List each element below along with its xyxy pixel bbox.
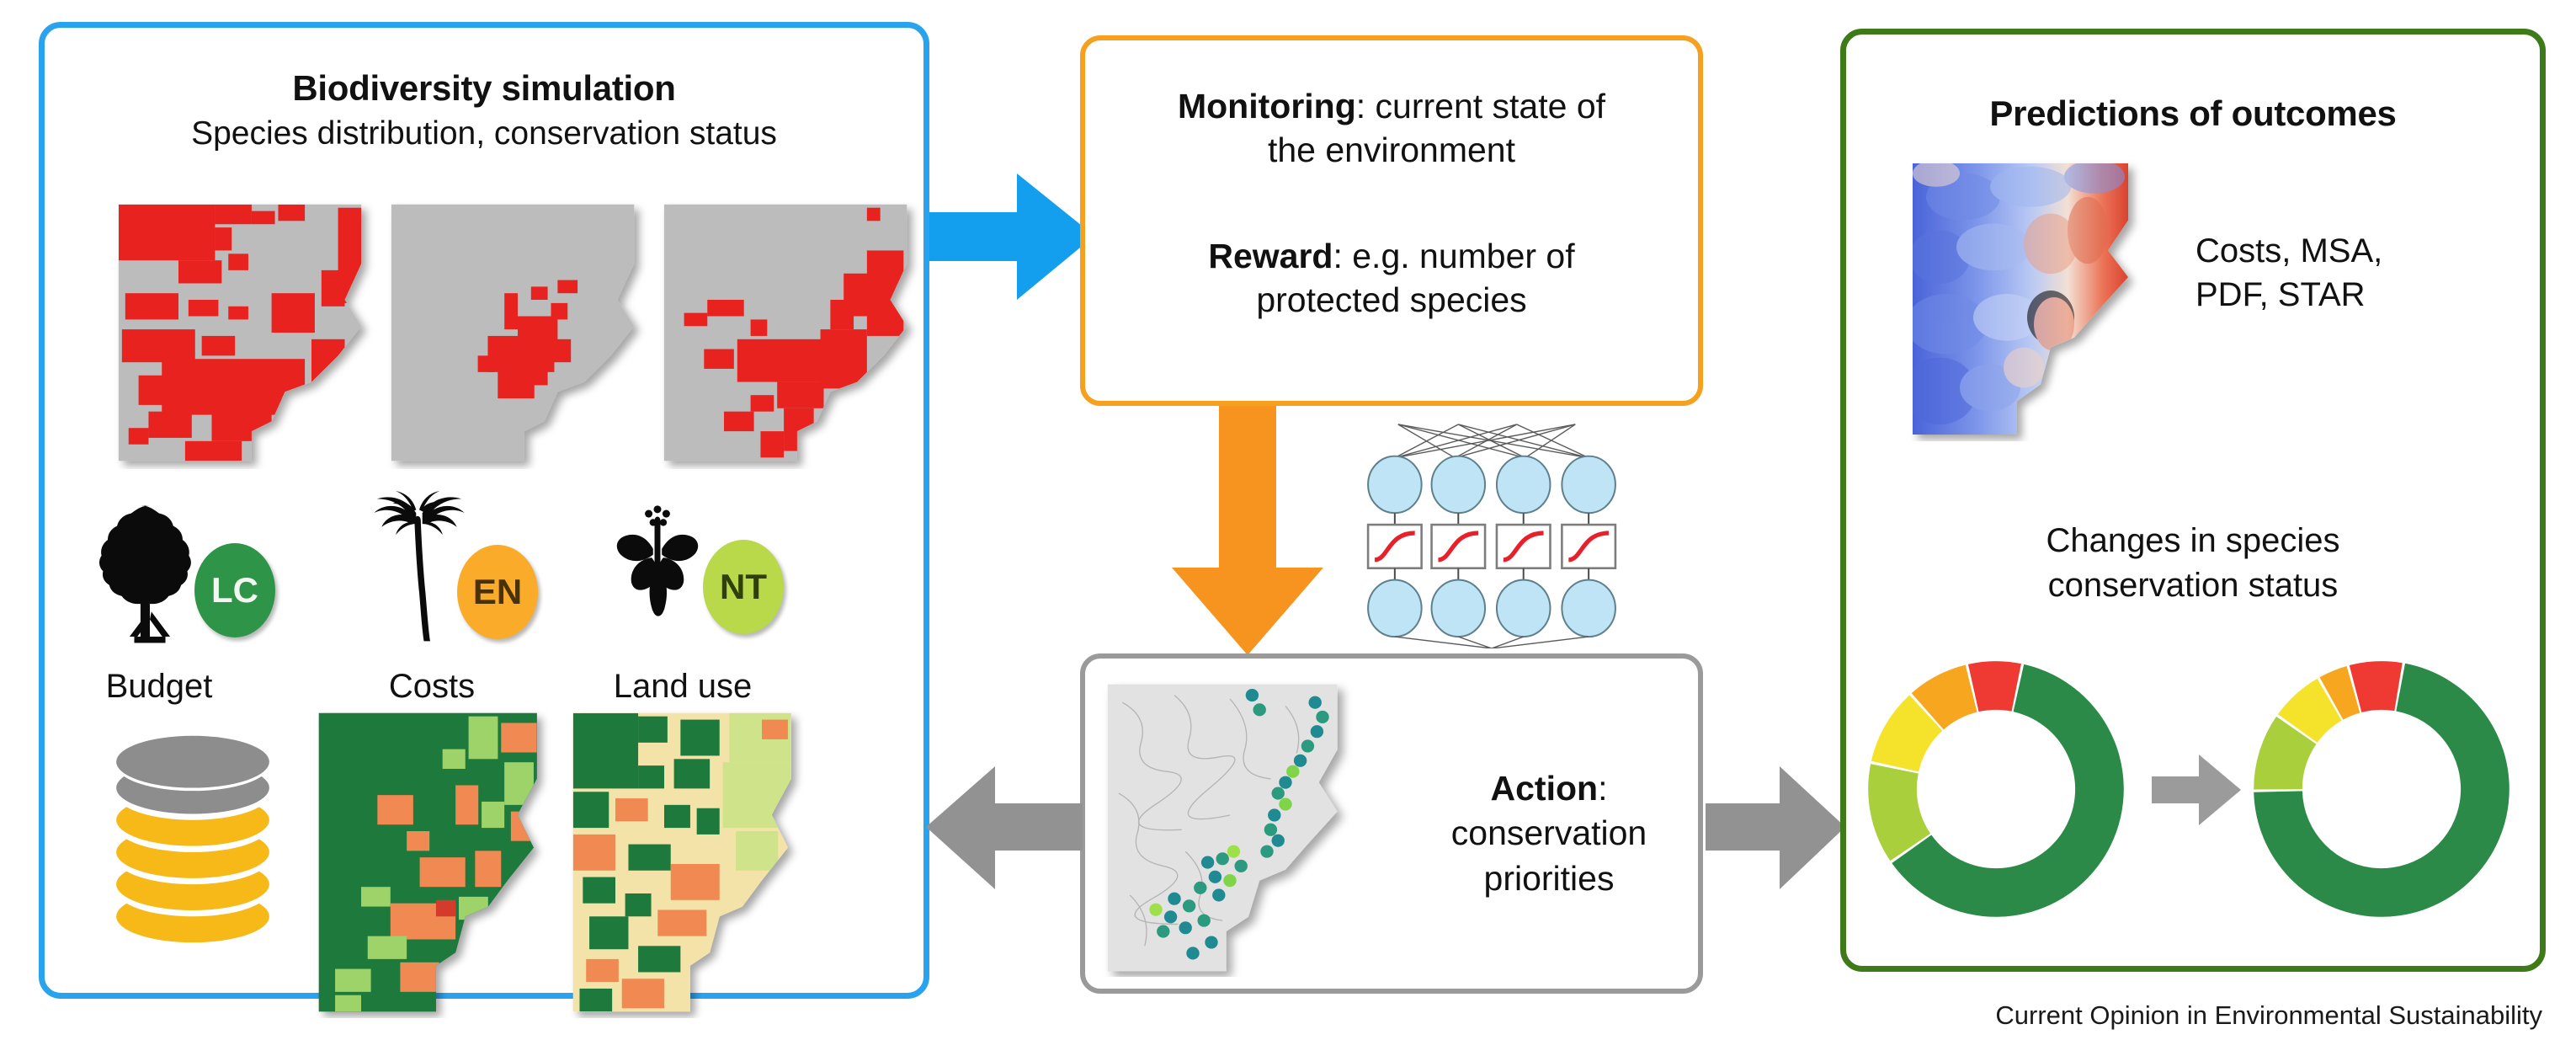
action-text: Action: conservation priorities: [1410, 766, 1688, 901]
metrics-line-2: PDF, STAR: [2195, 273, 2482, 317]
species-map-2: [385, 198, 651, 469]
icon-label-budget: Budget: [50, 668, 269, 706]
msa-prediction-map: [1906, 157, 2158, 441]
grey-right-arrow: [1706, 756, 1849, 899]
species-map-1: [112, 198, 378, 469]
orange-down-arrow: [1168, 406, 1328, 659]
reward-line-1-rest: : e.g. number of: [1333, 237, 1574, 275]
blue-right-arrow: [929, 157, 1098, 317]
flower-icon: [602, 504, 713, 646]
nn-activation-layer: [1368, 525, 1615, 568]
action-keyword: Action: [1491, 769, 1599, 808]
metrics-line-1: Costs, MSA,: [2195, 229, 2482, 273]
action-colon: :: [1598, 769, 1607, 808]
monitoring-line-1-rest: : current state of: [1356, 87, 1605, 125]
simulation-title: Biodiversity simulation: [45, 68, 923, 109]
icon-label-landuse: Land use: [573, 668, 792, 706]
action-line-3: priorities: [1484, 859, 1615, 898]
changes-line-1: Changes in species: [1852, 519, 2534, 563]
status-badge-en: EN: [457, 545, 538, 639]
reward-line-2: protected species: [1085, 278, 1698, 322]
simulation-subtitle: Species distribution, conservation statu…: [45, 115, 923, 152]
monitoring-line-1: Monitoring: current state of: [1085, 84, 1698, 128]
tree-icon: [95, 499, 205, 648]
donut-slice-CR: [1968, 661, 2021, 712]
conservation-change-label: Changes in species conservation status: [1852, 519, 2534, 608]
reward-line-1: Reward: e.g. number of: [1085, 234, 1698, 278]
biodiversity-simulation-panel: Biodiversity simulation Species distribu…: [39, 22, 929, 999]
conservation-status-after-donut: [2243, 642, 2520, 936]
nn-input-layer: [1368, 456, 1615, 514]
land-use-map-converted: [567, 707, 811, 1018]
predictions-title: Predictions of outcomes: [1846, 93, 2540, 134]
landuse-species-icon-group: NT: [602, 504, 713, 650]
grey-left-arrow: [923, 756, 1083, 899]
conservation-priority-map: [1100, 677, 1378, 977]
reward-keyword: Reward: [1208, 237, 1333, 275]
palm-tree-icon: [365, 489, 474, 649]
land-use-map-forest: [312, 707, 556, 1018]
monitoring-reward-box: Monitoring: current state of the environ…: [1080, 35, 1703, 406]
status-badge-lc: LC: [194, 543, 275, 637]
coin-stack-icon: [109, 733, 277, 952]
monitoring-line-2: the environment: [1085, 128, 1698, 172]
costs-species-icon-group: EN: [365, 489, 474, 653]
prediction-metrics-label: Costs, MSA, PDF, STAR: [2195, 229, 2482, 317]
icon-label-costs: Costs: [322, 668, 541, 706]
neural-network-diagram: [1357, 421, 1626, 648]
budget-species-icon-group: LC: [95, 499, 205, 652]
grey-right-arrow-small: [2152, 749, 2244, 830]
action-box: Action: conservation priorities: [1080, 653, 1703, 994]
action-line-2: conservation: [1451, 813, 1647, 852]
species-map-3: [657, 198, 923, 469]
status-badge-nt: NT: [703, 540, 784, 634]
conservation-status-before-donut: [1857, 642, 2135, 936]
nn-input-edges: [1395, 424, 1589, 458]
journal-caption: Current Opinion in Environmental Sustain…: [1995, 1000, 2542, 1031]
nn-output-edges: [1395, 637, 1589, 648]
changes-line-2: conservation status: [1852, 563, 2534, 608]
nn-output-layer: [1368, 580, 1615, 637]
monitoring-keyword: Monitoring: [1178, 87, 1356, 125]
